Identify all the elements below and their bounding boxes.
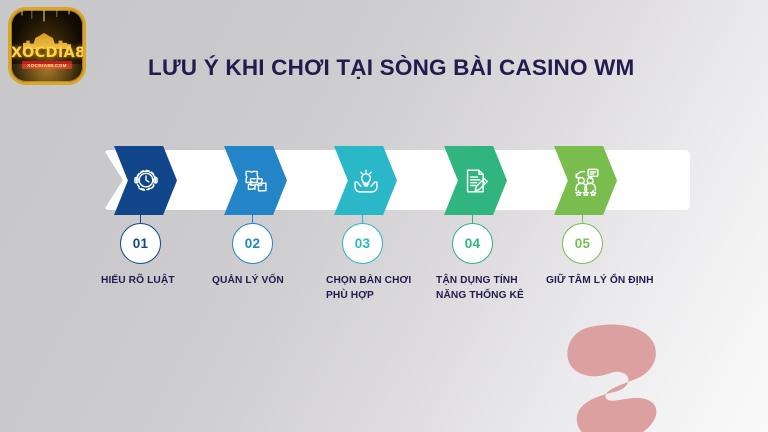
headset-clock-icon [131,166,161,196]
xocdia88-logo[interactable]: XOCDIA88 XOCDIA88.COM [8,7,86,85]
page-title: LƯU Ý KHI CHƠI TẠI SÒNG BÀI CASINO WM [148,55,635,81]
step-number-3: 03 [342,223,383,264]
step-label-3: CHỌN BÀN CHƠI PHÙ HỢP [326,274,434,304]
step-number-2: 02 [232,223,273,264]
step-label-4: TẬN DỤNG TÍNH NĂNG THỐNG KÊ [436,274,544,304]
infographic-canvas: XOCDIA88 XOCDIA88.COM LƯU Ý KHI CHƠI TẠI… [0,0,768,432]
logo-glow [8,64,86,85]
step-label-2: QUẢN LÝ VỐN [212,274,320,289]
decorative-squiggle [558,310,678,432]
logo-wordmark: XOCDIA88 [11,45,83,61]
step-number-4: 04 [452,223,493,264]
hands-lightbulb-icon [351,166,381,196]
step-label-5: GIỮ TÂM LÝ ỔN ĐỊNH [546,274,654,289]
document-pencil-icon [461,166,491,196]
people-rating-icon [571,166,601,196]
puzzle-pieces-icon [241,166,271,196]
step-number-1: 01 [120,223,161,264]
step-label-1: HIỂU RÕ LUẬT [101,274,209,289]
step-number-5: 05 [562,223,603,264]
